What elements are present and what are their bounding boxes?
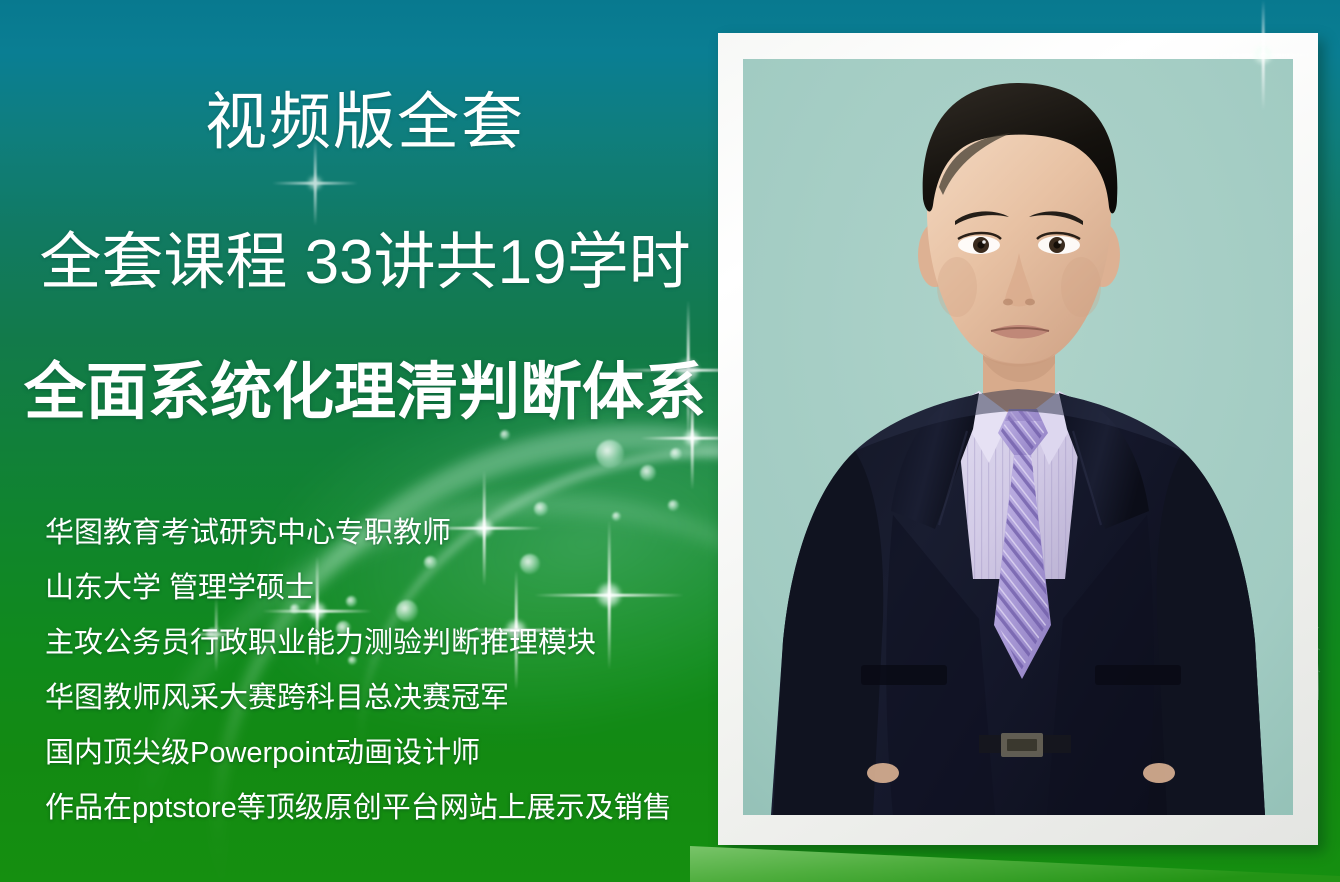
portrait-frame — [718, 33, 1318, 845]
course-scope: 全套课程 33讲共19学时 — [0, 232, 730, 294]
course-value: 全面系统化理清判断体系 — [0, 362, 730, 424]
credentials-list: 华图教育考试研究中心专职教师 山东大学 管理学硕士 主攻公务员行政职业能力测验判… — [45, 506, 735, 836]
list-item: 华图教师风采大赛跨科目总决赛冠军 — [45, 671, 735, 726]
bokeh-dot-icon-1 — [596, 440, 624, 468]
avatar — [743, 59, 1293, 815]
bokeh-dot-icon-3 — [670, 448, 682, 460]
promo-poster: 视频版全套 全套课程 33讲共19学时 全面系统化理清判断体系 华图教育考试研究… — [0, 0, 1340, 882]
page-title: 视频版全套 — [0, 92, 730, 154]
list-item: 山东大学 管理学硕士 — [45, 561, 735, 616]
portrait-photo — [743, 59, 1293, 815]
list-item: 主攻公务员行政职业能力测验判断推理模块 — [45, 616, 735, 671]
list-item: 国内顶尖级Powerpoint动画设计师 — [45, 726, 735, 781]
bokeh-dot-icon-15 — [500, 430, 510, 440]
list-item: 华图教育考试研究中心专职教师 — [45, 506, 735, 561]
list-item: 作品在pptstore等顶级原创平台网站上展示及销售 — [45, 781, 735, 836]
bokeh-dot-icon-2 — [640, 465, 656, 481]
